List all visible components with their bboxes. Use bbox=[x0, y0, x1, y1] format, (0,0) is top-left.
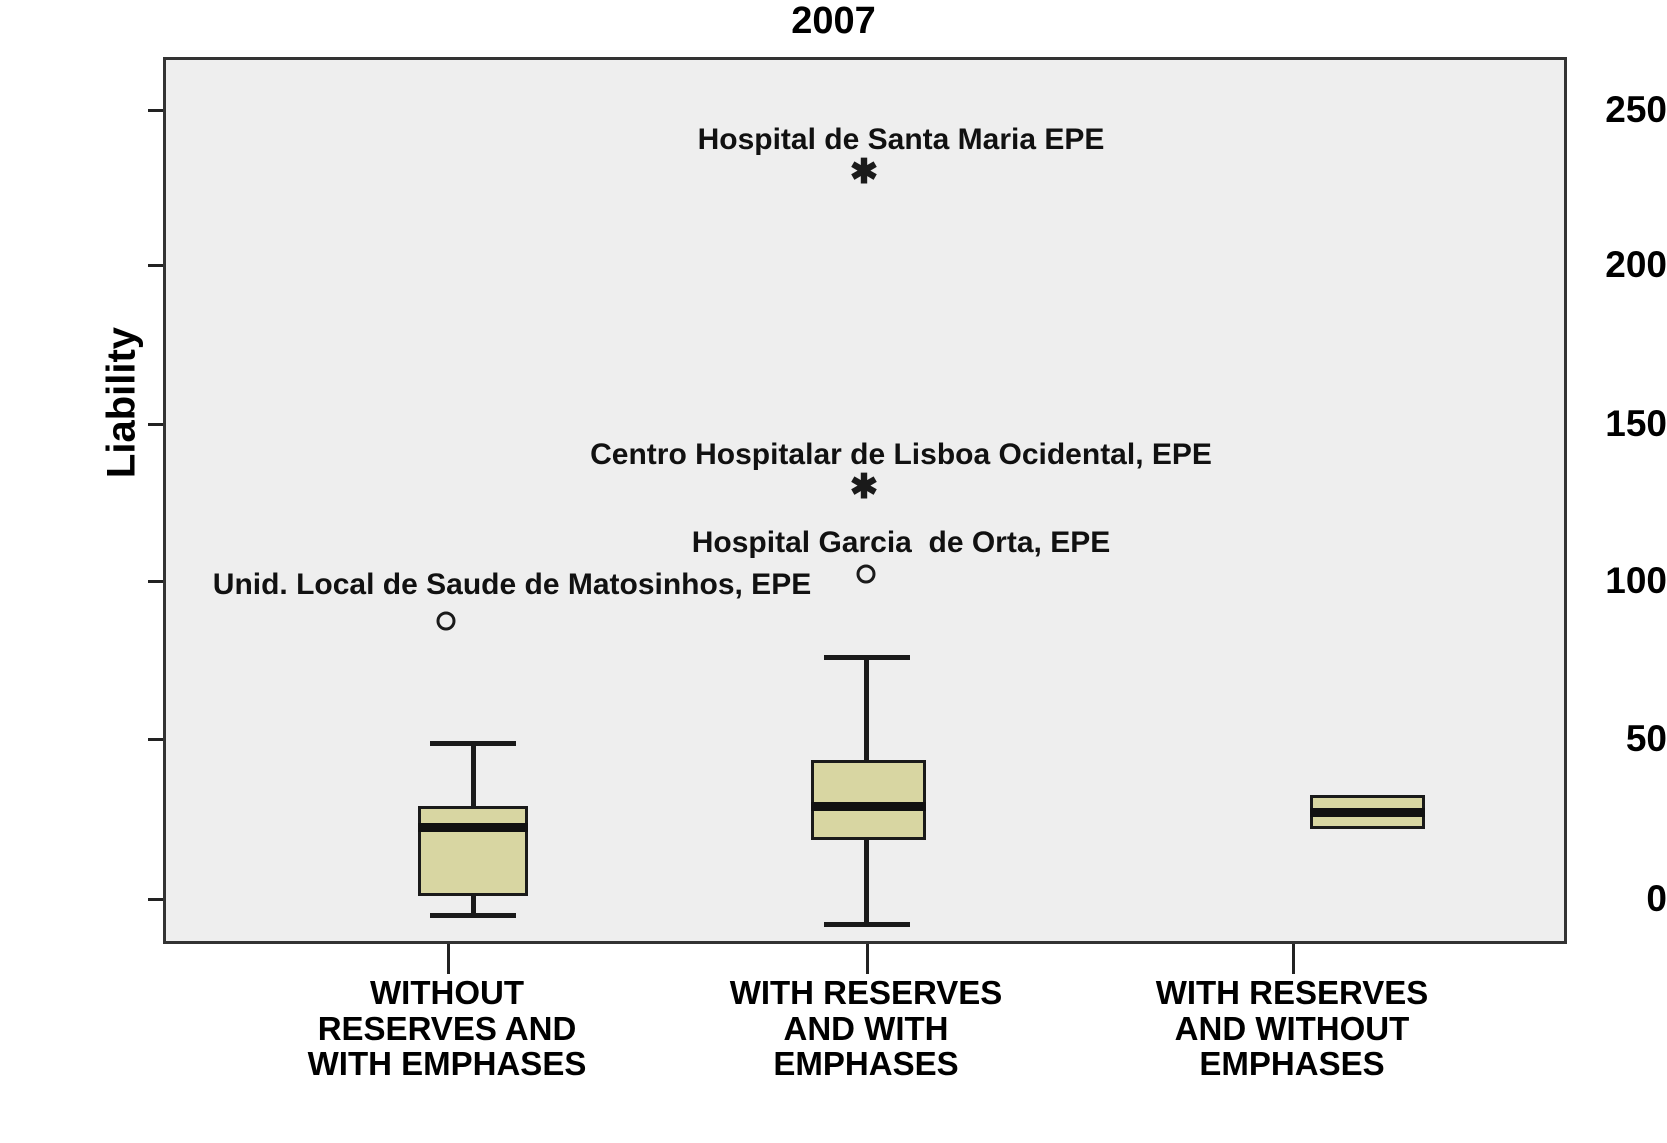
annotation-lisboa-ocidental: Centro Hospitalar de Lisboa Ocidental, E… bbox=[590, 438, 1212, 472]
box1-rect bbox=[418, 806, 528, 896]
box2-median-line bbox=[811, 802, 926, 811]
x-tick-label-2: WITH RESERVES AND WITH EMPHASES bbox=[656, 975, 1076, 1082]
box2-upper-whisker-cap bbox=[824, 655, 910, 660]
box2-rect bbox=[811, 760, 926, 840]
x-tick-label-2-line1: WITH RESERVES bbox=[656, 975, 1076, 1011]
box1-lower-whisker-cap bbox=[430, 913, 516, 918]
annotation-matosinhos: Unid. Local de Saude de Matosinhos, EPE bbox=[213, 568, 811, 602]
box1-upper-whisker-line bbox=[471, 741, 476, 807]
box1-median-line bbox=[418, 823, 528, 832]
outlier-circle-garcia-de-orta bbox=[857, 565, 876, 584]
x-tick-mark-1 bbox=[447, 944, 450, 974]
x-tick-mark-2 bbox=[866, 944, 869, 974]
box2-lower-whisker-cap bbox=[824, 922, 910, 927]
y-tick-mark-200 bbox=[148, 264, 164, 267]
outlier-star-lisboa-ocidental: ✱ bbox=[850, 470, 879, 504]
x-tick-label-1-line1: WITHOUT bbox=[237, 975, 657, 1011]
y-tick-mark-100 bbox=[148, 580, 164, 583]
y-axis-title: Liability bbox=[100, 273, 145, 533]
annotation-santa-maria: Hospital de Santa Maria EPE bbox=[698, 123, 1105, 157]
box3-median-line bbox=[1310, 808, 1425, 817]
x-tick-mark-3 bbox=[1292, 944, 1295, 974]
annotation-garcia-de-orta: Hospital Garcia de Orta, EPE bbox=[692, 526, 1110, 560]
x-tick-label-2-line3: EMPHASES bbox=[656, 1046, 1076, 1082]
box2-lower-whisker-line bbox=[864, 840, 869, 925]
outlier-star-santa-maria: ✱ bbox=[850, 155, 879, 189]
x-tick-label-2-line2: AND WITH bbox=[656, 1011, 1076, 1047]
box1-upper-whisker-cap bbox=[430, 741, 516, 746]
box2-upper-whisker-line bbox=[864, 655, 869, 761]
chart-title: 2007 bbox=[0, 0, 1667, 43]
outlier-circle-matosinhos bbox=[437, 612, 456, 631]
x-tick-label-3-line1: WITH RESERVES bbox=[1082, 975, 1502, 1011]
y-tick-mark-250 bbox=[148, 109, 164, 112]
boxplot-chart: 2007 Liability 250 200 150 100 50 0 ✱ ✱ … bbox=[0, 0, 1667, 1143]
x-tick-label-1: WITHOUT RESERVES AND WITH EMPHASES bbox=[237, 975, 657, 1082]
x-tick-label-3-line3: EMPHASES bbox=[1082, 1046, 1502, 1082]
x-tick-label-3-line2: AND WITHOUT bbox=[1082, 1011, 1502, 1047]
y-tick-mark-0 bbox=[148, 898, 164, 901]
x-tick-label-1-line2: RESERVES AND bbox=[237, 1011, 657, 1047]
x-tick-label-3: WITH RESERVES AND WITHOUT EMPHASES bbox=[1082, 975, 1502, 1082]
x-tick-label-1-line3: WITH EMPHASES bbox=[237, 1046, 657, 1082]
y-tick-mark-150 bbox=[148, 423, 164, 426]
y-tick-mark-50 bbox=[148, 738, 164, 741]
